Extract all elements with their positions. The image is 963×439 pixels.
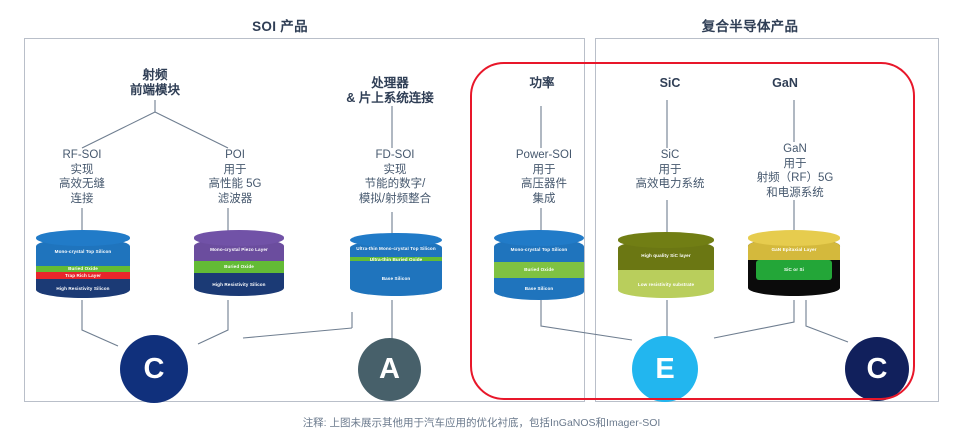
badge-letter: E	[655, 353, 674, 386]
footnote-text: 注释: 上图未展示其他用于汽车应用的优化衬底，包括InGaNOS和Imager-…	[0, 415, 963, 430]
wafer-layer-label: Base Silicon	[382, 276, 411, 281]
wafer-layer: Buried Oxide	[194, 261, 284, 273]
wafer-body: Mono-crystal Top SiliconBuried OxideTrap…	[36, 238, 130, 298]
wafer-sic: High quality SiC layerLow resistivity su…	[618, 240, 714, 298]
wafer-layer-label: Mono-crystal Top Silicon	[511, 247, 568, 252]
wafer-layer-label: Buried Oxide	[224, 264, 254, 269]
wafer-layer: Buried Oxide	[494, 262, 584, 278]
wafer-top-cap	[618, 232, 714, 247]
diagram-canvas: SOI 产品 复合半导体产品	[0, 0, 963, 439]
wafer-layer-label: SiC or Si	[784, 267, 804, 272]
wafer-fd-soi: Ultra-thin Mono-crystal Top SiliconUltra…	[350, 240, 442, 296]
wafer-top-cap	[36, 230, 130, 246]
wafer-body: High quality SiC layerLow resistivity su…	[618, 240, 714, 298]
wafer-gan: GaN Epitaxial LayerSiC or Si	[748, 238, 840, 296]
product-desc-fd-soi: FD-SOI 实现 节能的数字/ 模拟/射频整合	[330, 148, 460, 206]
wafer-layer: SiC or Si	[756, 260, 831, 280]
wafer-layer-label: Base Silicon	[525, 286, 554, 291]
wafer-layer-label: Buried Oxide	[524, 267, 554, 272]
wafer-top-cap	[748, 230, 840, 245]
badge-circle-e: E	[632, 336, 698, 402]
wafer-layer: Low resistivity substrate	[618, 270, 714, 298]
badge-circle-c-right: C	[845, 337, 909, 401]
wafer-layer-label: Mono-crystal Piezo Layer	[210, 247, 268, 252]
group-heading-processor: 处理器 & 片上系统连接	[300, 76, 480, 106]
wafer-layer: High Resistivity Silicon	[36, 279, 130, 298]
badge-circle-c-left: C	[120, 335, 188, 403]
wafer-body: Ultra-thin Mono-crystal Top SiliconUltra…	[350, 240, 442, 296]
wafer-body: GaN Epitaxial LayerSiC or Si	[748, 238, 840, 296]
wafer-layer-label: High Resistivity Silicon	[212, 282, 265, 287]
wafer-layer: Buried Oxide	[36, 266, 130, 273]
product-desc-poi: POI 用于 高性能 5G 滤波器	[175, 148, 295, 206]
wafer-layer: Base Silicon	[494, 278, 584, 300]
wafer-body: Mono-crystal Top SiliconBuried OxideBase…	[494, 238, 584, 300]
wafer-top-cap	[194, 230, 284, 245]
badge-letter: A	[379, 353, 400, 386]
wafer-layer-label: GaN Epitaxial Layer	[771, 247, 816, 252]
wafer-poi: Mono-crystal Piezo LayerBuried OxideHigh…	[194, 238, 284, 296]
badge-letter: C	[144, 353, 165, 386]
wafer-layer-label: High quality SiC layer	[641, 253, 690, 258]
wafer-layer-label: Low resistivity substrate	[638, 282, 694, 287]
group-heading-power: 功率	[487, 76, 597, 91]
badge-letter: C	[867, 353, 888, 386]
wafer-layer: Trap Rich Layer	[36, 272, 130, 279]
product-desc-rf-soi: RF-SOI 实现 高效无缝 连接	[22, 148, 142, 206]
group-heading-rf-frontend: 射频 前端模块	[80, 68, 230, 98]
wafer-layer-label: Buried Oxide	[68, 266, 98, 271]
badge-circle-a: A	[358, 338, 421, 401]
group-heading-gan: GaN	[735, 76, 835, 91]
wafer-layer-label: High Resistivity Silicon	[56, 286, 109, 291]
wafer-rf-soi: Mono-crystal Top SiliconBuried OxideTrap…	[36, 238, 130, 298]
wafer-layer-label: Mono-crystal Top Silicon	[55, 249, 112, 254]
group-heading-sic: SiC	[620, 76, 720, 91]
product-desc-gan: GaN 用于 射频（RF）5G 和电源系统	[730, 142, 860, 200]
wafer-layer: High Resistivity Silicon	[194, 273, 284, 296]
wafer-power-soi: Mono-crystal Top SiliconBuried OxideBase…	[494, 238, 584, 300]
wafer-layer-label: Trap Rich Layer	[65, 273, 101, 278]
wafer-layer: Base Silicon	[350, 261, 442, 296]
product-desc-sic: SiC 用于 高效电力系统	[610, 148, 730, 192]
product-desc-power-soi: Power-SOI 用于 高压器件 集成	[485, 148, 603, 206]
wafer-body: Mono-crystal Piezo LayerBuried OxideHigh…	[194, 238, 284, 296]
wafer-top-cap	[494, 230, 584, 246]
